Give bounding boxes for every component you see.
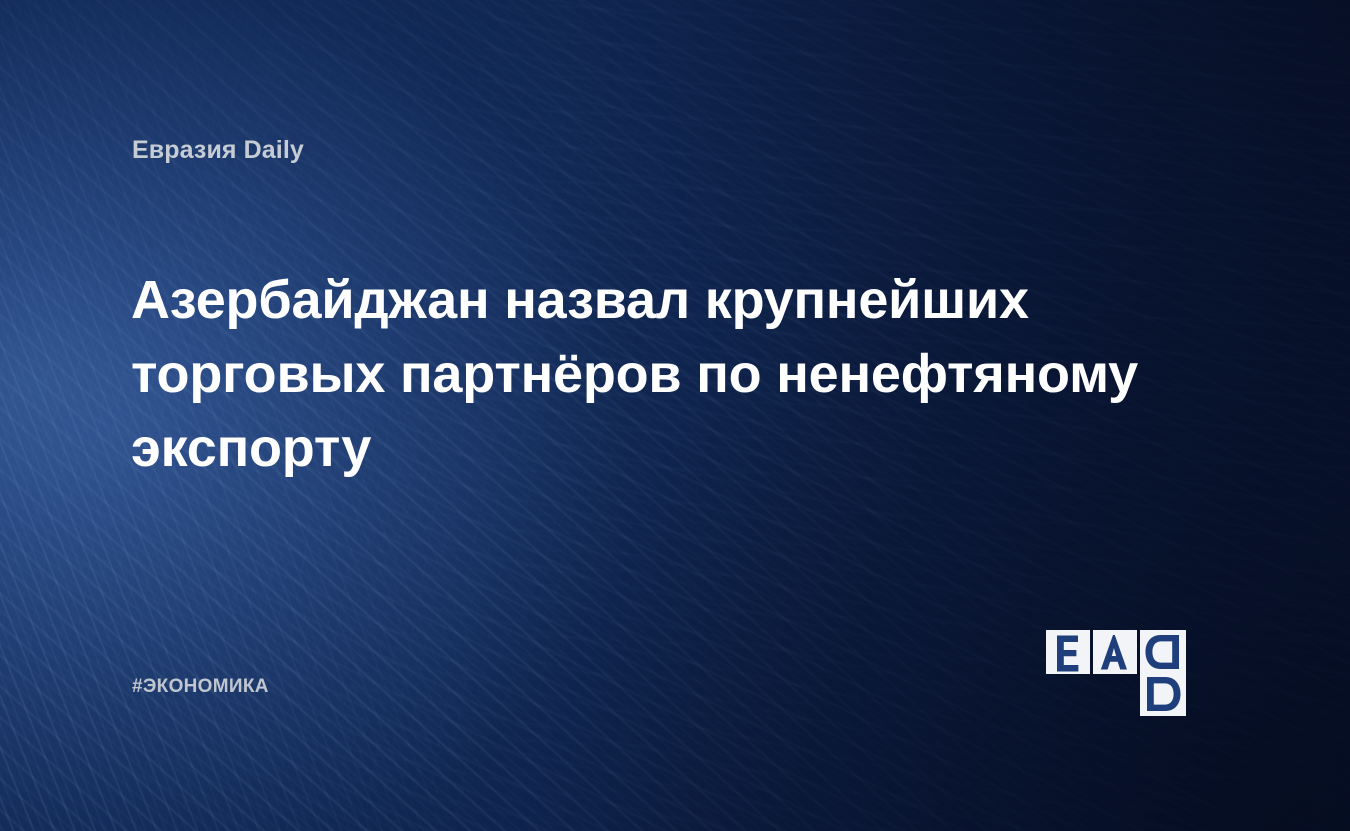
logo-tile-a [1093, 630, 1137, 674]
page-title: Азербайджан назвал крупнейших торговых п… [131, 263, 1161, 485]
logo-tile-d [1140, 630, 1186, 716]
logo-tile-e [1046, 630, 1090, 674]
social-share-card: Евразия Daily Азербайджан назвал крупней… [0, 0, 1350, 831]
eadaily-logo[interactable] [1046, 630, 1224, 716]
card-content: Евразия Daily Азербайджан назвал крупней… [0, 0, 1350, 831]
category-hashtag[interactable]: #ЭКОНОМИКА [132, 676, 269, 698]
brand-name: Евразия Daily [132, 136, 304, 165]
